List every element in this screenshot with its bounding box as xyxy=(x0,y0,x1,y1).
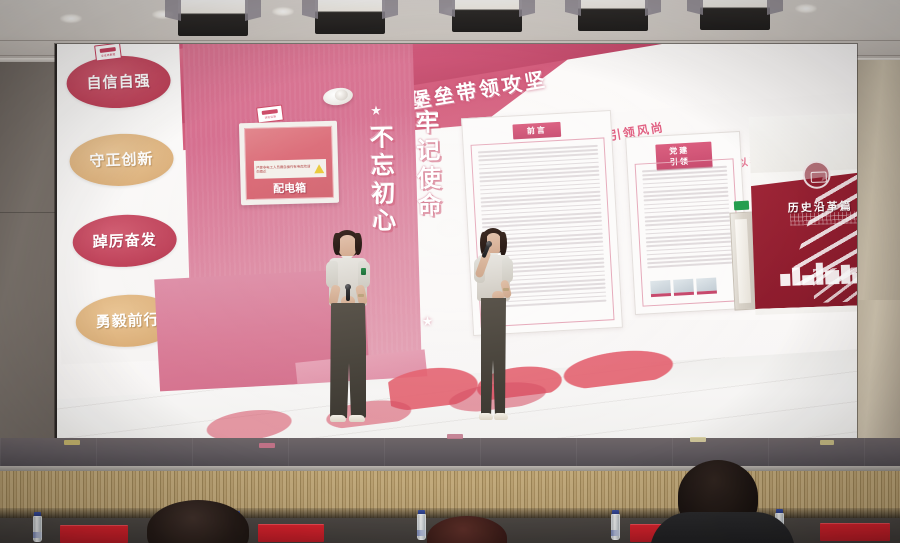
performer-left-shoe xyxy=(349,415,365,422)
stage-panel-light xyxy=(452,0,522,32)
slide-content: 以堡垒带领攻坚 以模范引领风尚 以奉献温暖全员 自信自强 守正创新 踔厉奋发 xyxy=(57,44,857,440)
electrical-warning-text: 严禁非电工人员擅自操作有电危险请勿靠近 xyxy=(256,164,312,174)
downlight xyxy=(272,7,294,16)
history-panel-chevrons xyxy=(813,265,857,303)
performer-right-shoe xyxy=(494,413,508,420)
history-panel-dot-grid xyxy=(790,210,857,225)
slide-badge-1-label: 自信自强 xyxy=(86,74,151,91)
exhibit-board-preface-heading: 前言 xyxy=(512,122,561,140)
floor-tape-mark xyxy=(64,440,80,445)
performer-left-shoe xyxy=(330,415,346,422)
bottle-label xyxy=(611,530,620,536)
stage-panel-light xyxy=(700,0,770,30)
slide-badge-2: 守正创新 xyxy=(69,132,175,188)
thumbnail-image xyxy=(696,277,717,294)
performer-right-watch xyxy=(503,288,509,291)
name-placard xyxy=(60,525,128,543)
warning-triangle-icon xyxy=(314,164,324,173)
bottle-body xyxy=(417,514,426,540)
left-wall xyxy=(0,62,62,462)
electrical-box-label: 配电箱 xyxy=(246,179,332,197)
barn-door-left-icon xyxy=(165,0,181,21)
slogan-column-2: 牢记使命 xyxy=(408,109,449,221)
ceiling-seam xyxy=(0,40,900,41)
stage-panel-light xyxy=(578,0,648,31)
history-panel-ceiling xyxy=(749,111,857,173)
star-icon: ★ xyxy=(370,103,382,119)
led-stage-screen: 以堡垒带领攻坚 以模范引领风尚 以奉献温暖全员 自信自强 守正创新 踔厉奋发 xyxy=(55,44,857,440)
bottle-label xyxy=(33,532,42,538)
performer-left-arm-badge xyxy=(361,268,366,275)
floor-tape-mark xyxy=(259,443,275,448)
audience-member-3-shoulders xyxy=(650,512,795,543)
name-placard xyxy=(258,524,324,542)
slide-badge-1: 自信自强 xyxy=(66,54,172,110)
electrical-distribution-box: 严禁非电工人员擅自操作有电危险请勿靠近 配电箱 xyxy=(239,121,339,206)
exit-sign-icon xyxy=(734,201,749,211)
bottle-body xyxy=(611,514,620,540)
auditorium-photo: 以堡垒带领攻坚 以模范引领风尚 以奉献温暖全员 自信自强 守正创新 踔厉奋发 xyxy=(0,0,900,543)
slide-badge-2-label: 守正创新 xyxy=(89,152,154,169)
microphone-head-icon xyxy=(345,284,351,290)
floor-tape-mark xyxy=(447,434,463,439)
bottle-label xyxy=(417,530,426,536)
stage-panel-light xyxy=(315,0,385,34)
floor-tape-mark xyxy=(820,440,834,445)
electrical-warning-label: 严禁非电工人员擅自操作有电危险请勿靠近 xyxy=(254,159,326,179)
exhibit-board-frame xyxy=(635,158,742,306)
slide-badge-3-label: 踔厉奋发 xyxy=(92,233,157,250)
name-placard xyxy=(820,523,890,541)
thumbnail-image xyxy=(650,280,671,297)
stage-panel-light xyxy=(178,0,248,36)
performer-right-shoe xyxy=(479,413,493,420)
performer-left-watch xyxy=(358,294,364,297)
star-icon: ★ xyxy=(422,313,434,329)
slide-badge-3: 踔厉奋发 xyxy=(72,213,178,269)
slide-center-slogan: ★ ★ ★ 不忘初心 牢记使命 xyxy=(356,101,467,334)
thumbnail-image xyxy=(673,279,694,296)
bottle-body xyxy=(33,516,42,542)
performer-left-hair-back xyxy=(333,233,340,255)
slide-history-panel: 历史沿革篇 1954 xyxy=(749,111,857,315)
slogan-column-1: 不忘初心 xyxy=(363,124,404,236)
microphone-head-icon xyxy=(486,241,492,247)
fire-equipment-sign-icon: 消防设施 xyxy=(256,104,284,123)
slide-badge-4-label: 勇毅前行 xyxy=(95,313,160,330)
downlight xyxy=(60,14,82,23)
downlight xyxy=(795,4,817,13)
floor-tape-mark xyxy=(690,437,706,442)
performer-left-sleeve xyxy=(326,261,338,288)
